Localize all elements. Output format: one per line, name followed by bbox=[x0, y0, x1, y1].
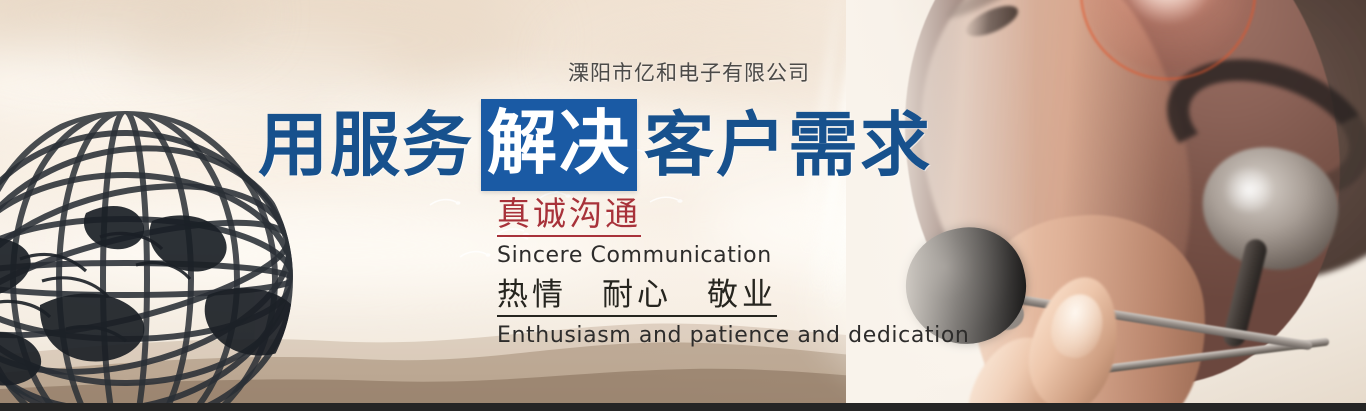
slogan-cn-secondary: 热情 耐心 敬业 bbox=[497, 278, 777, 317]
headline-part-before: 用服务 bbox=[258, 110, 474, 180]
slogan-cn-primary: 真诚沟通 bbox=[497, 196, 641, 237]
bottom-bar bbox=[0, 403, 1366, 411]
headline-part-after: 客户需求 bbox=[644, 110, 932, 180]
slogan-en-secondary: Enthusiasm and patience and dedication bbox=[497, 323, 969, 348]
slogan-block: 真诚沟通 Sincere Communication 热情 耐心 敬业 Enth… bbox=[497, 196, 969, 348]
promo-banner: 溧阳市亿和电子有限公司 用服务 解决 客户需求 真诚沟通 Sincere Com… bbox=[0, 0, 1366, 411]
text-layer: 溧阳市亿和电子有限公司 用服务 解决 客户需求 真诚沟通 Sincere Com… bbox=[0, 0, 1366, 411]
headline: 用服务 解决 客户需求 bbox=[258, 99, 932, 191]
company-name: 溧阳市亿和电子有限公司 bbox=[568, 57, 810, 87]
slogan-en-primary: Sincere Communication bbox=[497, 243, 969, 268]
headline-highlight: 解决 bbox=[481, 99, 637, 191]
